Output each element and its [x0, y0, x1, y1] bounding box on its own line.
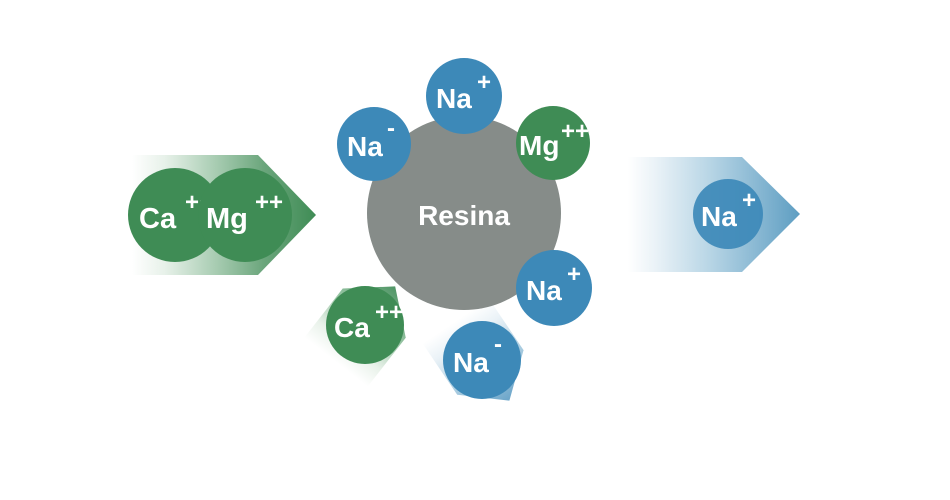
- bound-ion-na-minus[interactable]: Na -: [337, 107, 411, 181]
- released-ion-ca-charge: ++: [375, 299, 403, 326]
- inlet-ion-mg-charge: ++: [255, 189, 283, 216]
- diagram-stage: Ca ++ Mg ++ Ca ++ Na -: [0, 0, 950, 500]
- released-ion-ca[interactable]: Ca ++: [326, 286, 404, 364]
- inlet-arrow-group[interactable]: Ca ++ Mg ++: [128, 155, 316, 275]
- released-ion-na-minus[interactable]: Na -: [443, 321, 521, 399]
- bound-ion-na-plus-top[interactable]: Na +: [426, 58, 502, 134]
- released-ion-ca-label: Ca: [334, 312, 370, 343]
- bound-ion-na-plus-right-label: Na: [526, 275, 562, 306]
- outlet-ion-na-label: Na: [701, 201, 737, 232]
- bound-ion-mg-label: Mg: [519, 130, 559, 161]
- released-ion-na-minus-label: Na: [453, 347, 489, 378]
- bound-ion-na-plus-top-charge: +: [477, 69, 491, 96]
- outlet-ion-na[interactable]: Na +: [693, 179, 763, 249]
- bound-ion-na-plus-right[interactable]: Na +: [516, 250, 592, 326]
- inlet-ion-ca-label: Ca: [139, 203, 177, 235]
- bound-ion-mg[interactable]: Mg ++: [516, 106, 590, 180]
- bound-ion-na-plus-right-charge: +: [567, 261, 581, 288]
- inlet-ion-mg[interactable]: Mg ++: [198, 168, 292, 262]
- released-ion-na-minus-charge: -: [494, 331, 502, 358]
- outlet-arrow-group[interactable]: Na +: [628, 157, 800, 272]
- inlet-ion-mg-label: Mg: [206, 203, 248, 235]
- bound-ion-mg-charge: ++: [561, 118, 589, 145]
- outlet-ion-na-charge: +: [742, 187, 756, 214]
- bound-ion-na-minus-charge: -: [387, 115, 395, 142]
- bound-ion-na-minus-label: Na: [347, 131, 383, 162]
- ion-exchange-diagram: Ca ++ Mg ++ Ca ++ Na -: [0, 0, 950, 500]
- bound-ion-na-plus-top-label: Na: [436, 83, 472, 114]
- resin-label: Resina: [418, 200, 510, 231]
